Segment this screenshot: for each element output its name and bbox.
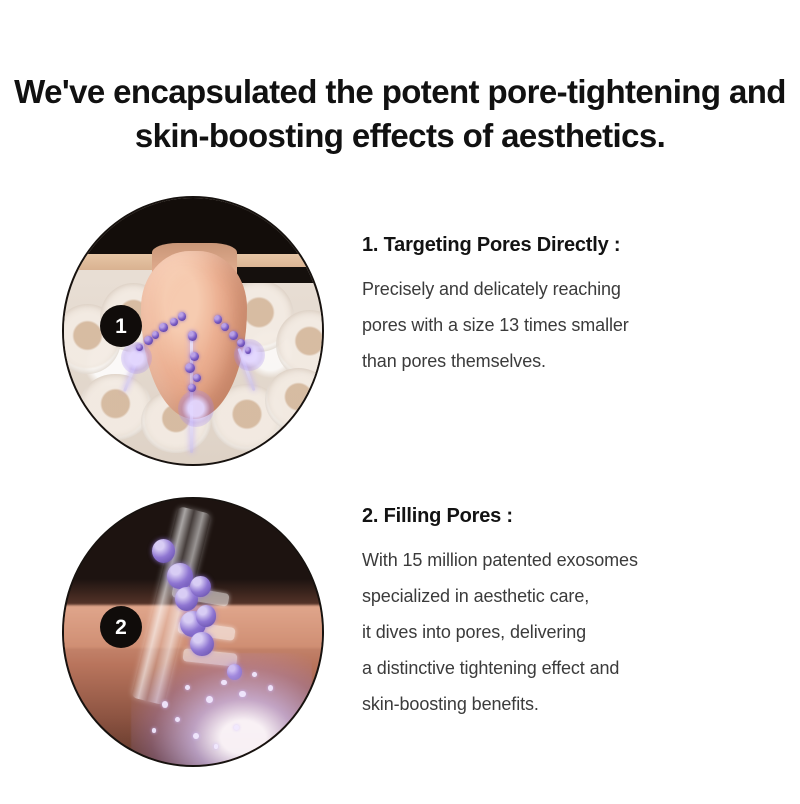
particle-dot <box>214 744 219 749</box>
step-1-body-line: pores with a size 13 times smaller <box>362 307 782 343</box>
exosome-bead <box>237 339 245 347</box>
particle-dot <box>162 701 168 707</box>
step-2-body-line: With 15 million patented exosomes <box>362 542 782 578</box>
step-1-body-line: than pores themselves. <box>362 343 782 379</box>
exosome-sphere <box>196 605 217 626</box>
headline-line-1: We've encapsulated the potent pore-tight… <box>0 70 800 114</box>
exosome-bead <box>229 331 238 340</box>
exosome-bead <box>185 363 195 373</box>
step-2-title: 2. Filling Pores : <box>362 503 782 529</box>
exosome-bead <box>188 384 196 392</box>
step-2-body-line: skin-boosting benefits. <box>362 686 782 722</box>
particle-dot <box>252 672 257 677</box>
step-1-text: 1. Targeting Pores Directly : Precisely … <box>362 232 782 379</box>
particle-dot <box>239 691 245 697</box>
step-1-body: Precisely and delicately reaching pores … <box>362 271 782 379</box>
exosome-sphere <box>152 539 175 563</box>
exosome-particle-cloud <box>131 653 312 767</box>
step-1-number-badge: 1 <box>100 305 142 347</box>
step-1-title: 1. Targeting Pores Directly : <box>362 232 782 258</box>
step-2-number-badge: 2 <box>100 606 142 648</box>
exosome-bead <box>245 347 252 354</box>
step-row-1: 1 1. Targeting Pores Directly : Precisel… <box>0 196 800 471</box>
particle-dot <box>206 696 213 703</box>
particle-dot <box>268 685 273 690</box>
pore-ring-icon <box>265 368 324 432</box>
step-row-2: 2 2. Filling Pores : With 15 million pat… <box>0 497 800 772</box>
step-2-body-line: specialized in aesthetic care, <box>362 578 782 614</box>
step-1-image-wrap: 1 <box>62 196 324 466</box>
exosome-bead <box>188 331 197 341</box>
particle-dot <box>185 685 190 690</box>
headline-line-2: skin-boosting effects of aesthetics. <box>0 114 800 158</box>
exosome-bead <box>170 318 178 326</box>
page-headline: We've encapsulated the potent pore-tight… <box>0 70 800 158</box>
step-2-body-line: a distinctive tightening effect and <box>362 650 782 686</box>
exosome-bead <box>159 323 167 332</box>
particle-dot <box>152 728 157 733</box>
particle-dot <box>221 680 226 685</box>
exosome-bead <box>214 315 222 324</box>
step-2-text: 2. Filling Pores : With 15 million paten… <box>362 503 782 722</box>
step-1-body-line: Precisely and delicately reaching <box>362 271 782 307</box>
pore-ring-icon <box>79 374 151 441</box>
step-2-body: With 15 million patented exosomes specia… <box>362 542 782 722</box>
step-2-body-line: it dives into pores, delivering <box>362 614 782 650</box>
step-2-image-wrap: 2 <box>62 497 324 767</box>
needle-glow <box>178 390 214 427</box>
particle-dot <box>193 733 199 739</box>
